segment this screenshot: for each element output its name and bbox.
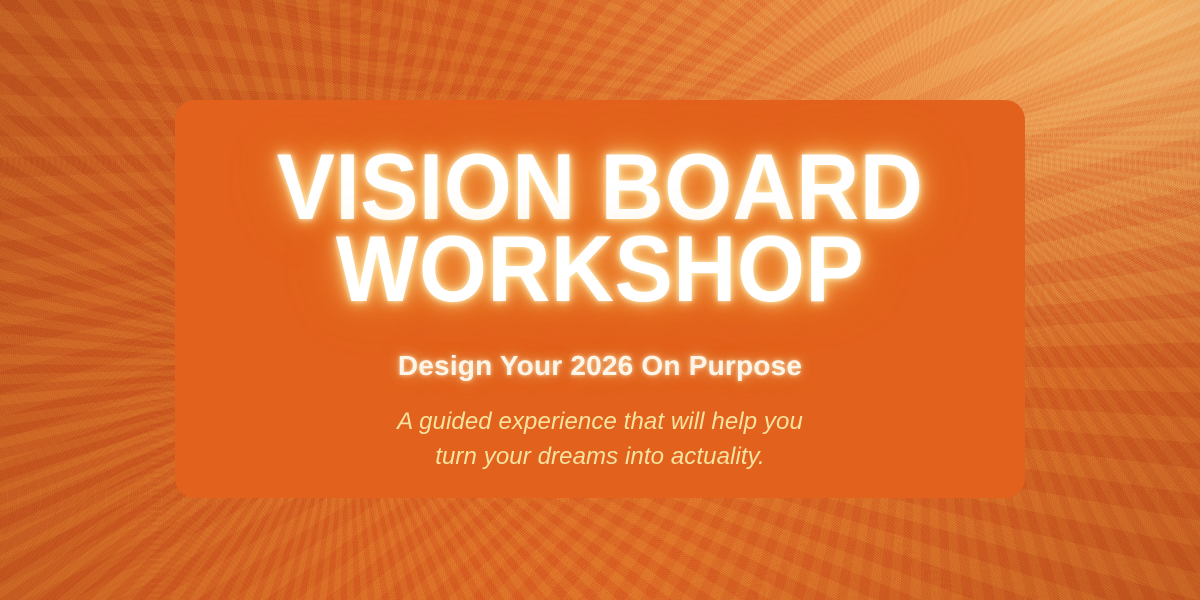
headline-line-2: WORKSHOP <box>205 228 996 310</box>
content-card: VISION BOARD WORKSHOP Design Your 2026 O… <box>175 100 1025 498</box>
subtitle: Design Your 2026 On Purpose <box>398 350 802 382</box>
tagline-line-1: A guided experience that will help you <box>397 404 803 439</box>
event-banner: VISION BOARD WORKSHOP Design Your 2026 O… <box>0 0 1200 600</box>
tagline-line-2: turn your dreams into actuality. <box>397 439 803 474</box>
tagline: A guided experience that will help you t… <box>397 404 803 474</box>
